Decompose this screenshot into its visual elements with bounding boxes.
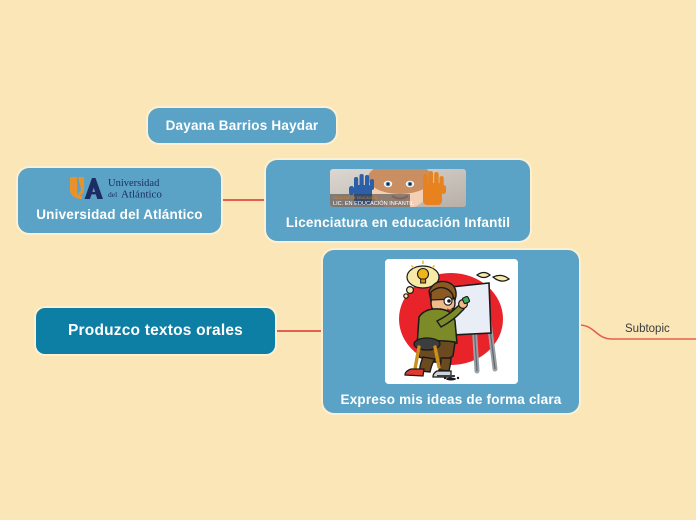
node-author-label: Dayana Barrios Haydar [166, 118, 319, 134]
photo-caption-small: FACULTAD DE EDUCACIÓN [333, 195, 378, 200]
node-expreso-label: Expreso mis ideas de forma clara [340, 392, 561, 408]
mindmap-canvas: Dayana Barrios Haydar Universidad del At… [0, 0, 696, 520]
svg-text:Atlántico: Atlántico [121, 189, 162, 201]
man-at-easel-with-idea-cartoon [385, 259, 518, 384]
node-universidad-label: Universidad del Atlántico [36, 207, 203, 223]
node-expreso-mis-ideas[interactable]: Expreso mis ideas de forma clara [323, 250, 579, 413]
node-universidad-del-atlantico[interactable]: Universidad del Atlántico Universidad de… [18, 168, 221, 233]
node-central-label: Produzco textos orales [68, 322, 243, 340]
svg-text:del: del [108, 190, 117, 199]
svg-text:Universidad: Universidad [108, 178, 160, 189]
node-licenciatura-label: Licenciatura en educación Infantil [286, 215, 510, 231]
node-produzco-textos-orales[interactable]: Produzco textos orales [36, 308, 275, 354]
universidad-del-atlantico-logo-icon: Universidad del Atlántico [64, 175, 176, 201]
node-subtopic-label[interactable]: Subtopic [625, 323, 670, 335]
child-painted-hands-photo: FACULTAD DE EDUCACIÓN LIC. EN EDUCACIÓN … [330, 169, 466, 207]
node-author[interactable]: Dayana Barrios Haydar [148, 108, 336, 143]
photo-caption: LIC. EN EDUCACIÓN INFANTIL [333, 200, 414, 207]
node-licenciatura-educacion-infantil[interactable]: FACULTAD DE EDUCACIÓN LIC. EN EDUCACIÓN … [266, 160, 530, 241]
